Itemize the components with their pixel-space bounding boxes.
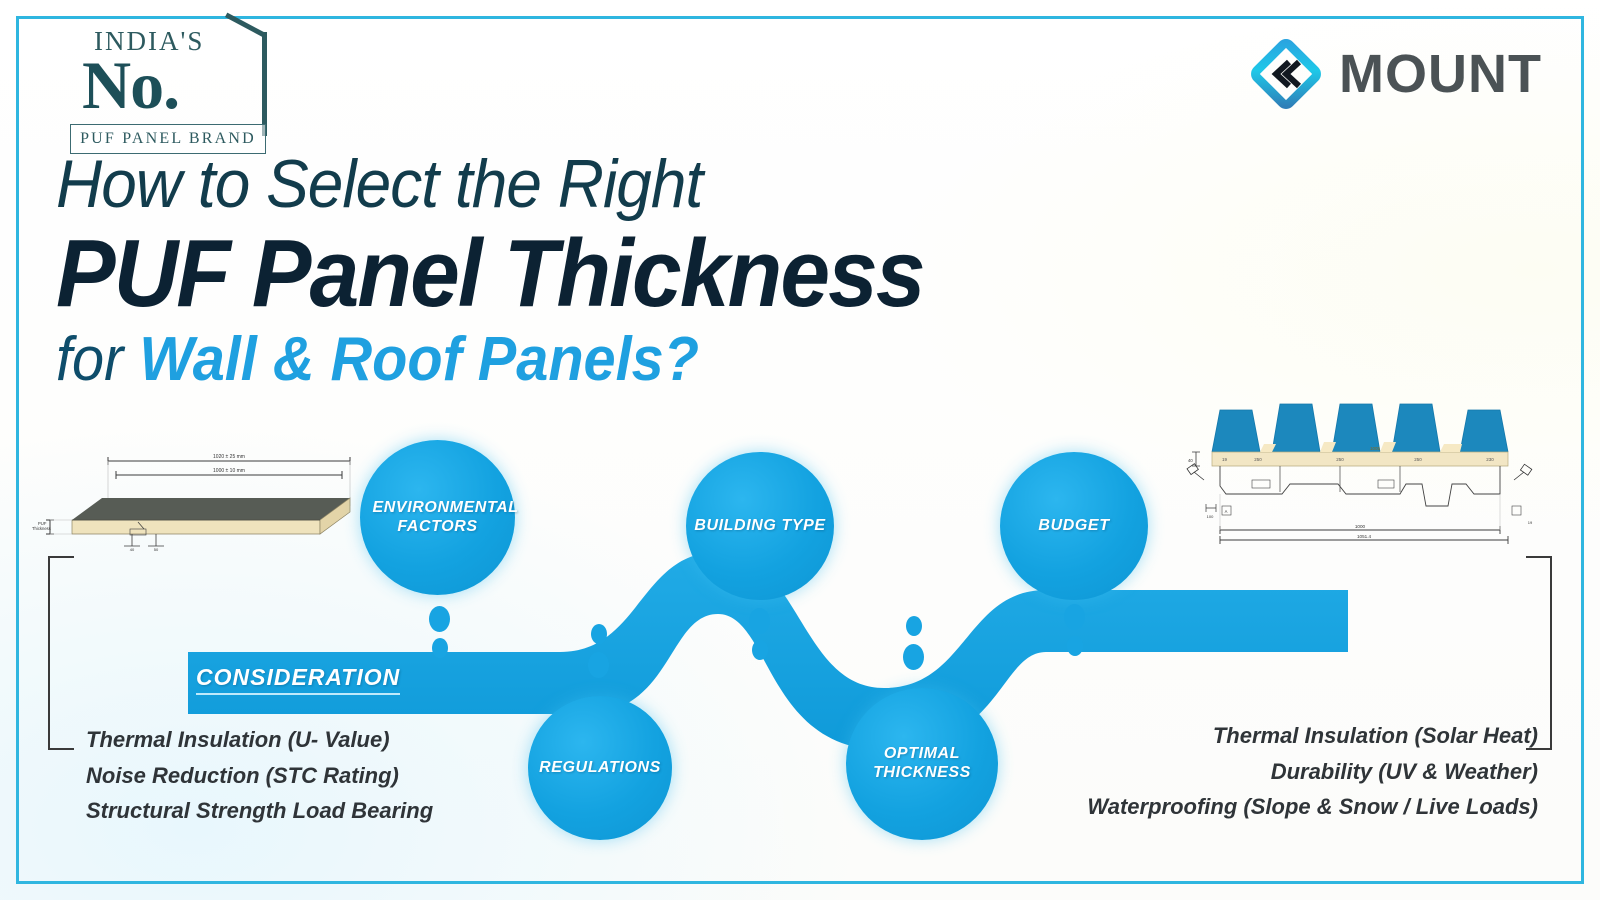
- headline-line-3-accent: Wall & Roof Panels?: [139, 325, 699, 394]
- list-item: Thermal Insulation (Solar Heat): [1087, 718, 1538, 754]
- node-environmental-factors[interactable]: ENVIRONMENTAL FACTORS: [360, 440, 515, 595]
- consideration-label: CONSIDERATION: [196, 664, 400, 695]
- connector-dot: [591, 624, 607, 644]
- headline-line-3: for Wall & Roof Panels?: [56, 327, 1098, 392]
- poster-canvas: INDIA'S No. PUF PANEL BRAND MOU: [0, 0, 1600, 900]
- list-item: Durability (UV & Weather): [1087, 754, 1538, 790]
- connector-dot: [749, 608, 770, 634]
- wall-panel-considerations-list: Thermal Insulation (U- Value) Noise Redu…: [86, 722, 433, 829]
- headline-line-1: How to Select the Right: [56, 150, 1109, 218]
- node-regulations[interactable]: REGULATIONS: [528, 696, 672, 840]
- node-optimal-thickness-label: OPTIMAL THICKNESS: [862, 745, 982, 783]
- list-item: Waterproofing (Slope & Snow / Live Loads…: [1087, 789, 1538, 825]
- node-environmental-factors-label: ENVIRONMENTAL FACTORS: [373, 499, 503, 537]
- headline-block: How to Select the Right PUF Panel Thickn…: [56, 150, 1176, 392]
- connector-dot: [906, 616, 922, 636]
- badge-no-text: No.: [82, 46, 179, 125]
- mount-wordmark: MOUNT: [1339, 43, 1542, 105]
- list-item: Noise Reduction (STC Rating): [86, 758, 433, 794]
- connector-dot: [432, 638, 448, 658]
- mount-logo: MOUNT: [1249, 36, 1542, 112]
- node-regulations-label: REGULATIONS: [533, 759, 667, 778]
- connector-dot: [1067, 636, 1083, 656]
- node-budget[interactable]: BUDGET: [1000, 452, 1148, 600]
- connector-dot: [1064, 604, 1085, 630]
- connector-dot: [429, 606, 450, 632]
- node-budget-label: BUDGET: [1009, 517, 1139, 536]
- connector-dot: [752, 640, 768, 660]
- bracket-left: [48, 556, 74, 750]
- connector-dot: [588, 652, 609, 678]
- headline-line-3-prefix: for: [56, 325, 139, 394]
- roof-panel-considerations-list: Thermal Insulation (Solar Heat) Durabili…: [1087, 718, 1538, 825]
- node-optimal-thickness[interactable]: OPTIMAL THICKNESS: [846, 688, 998, 840]
- headline-line-2: PUF Panel Thickness: [56, 224, 1098, 325]
- connector-dot: [903, 644, 924, 670]
- list-item: Structural Strength Load Bearing: [86, 793, 433, 829]
- node-building-type[interactable]: BUILDING TYPE: [686, 452, 834, 600]
- list-item: Thermal Insulation (U- Value): [86, 722, 433, 758]
- double-chevron-diamond-icon: [1249, 37, 1323, 111]
- india-no1-brand-badge: INDIA'S No. PUF PANEL BRAND: [42, 24, 292, 144]
- node-building-type-label: BUILDING TYPE: [692, 517, 828, 536]
